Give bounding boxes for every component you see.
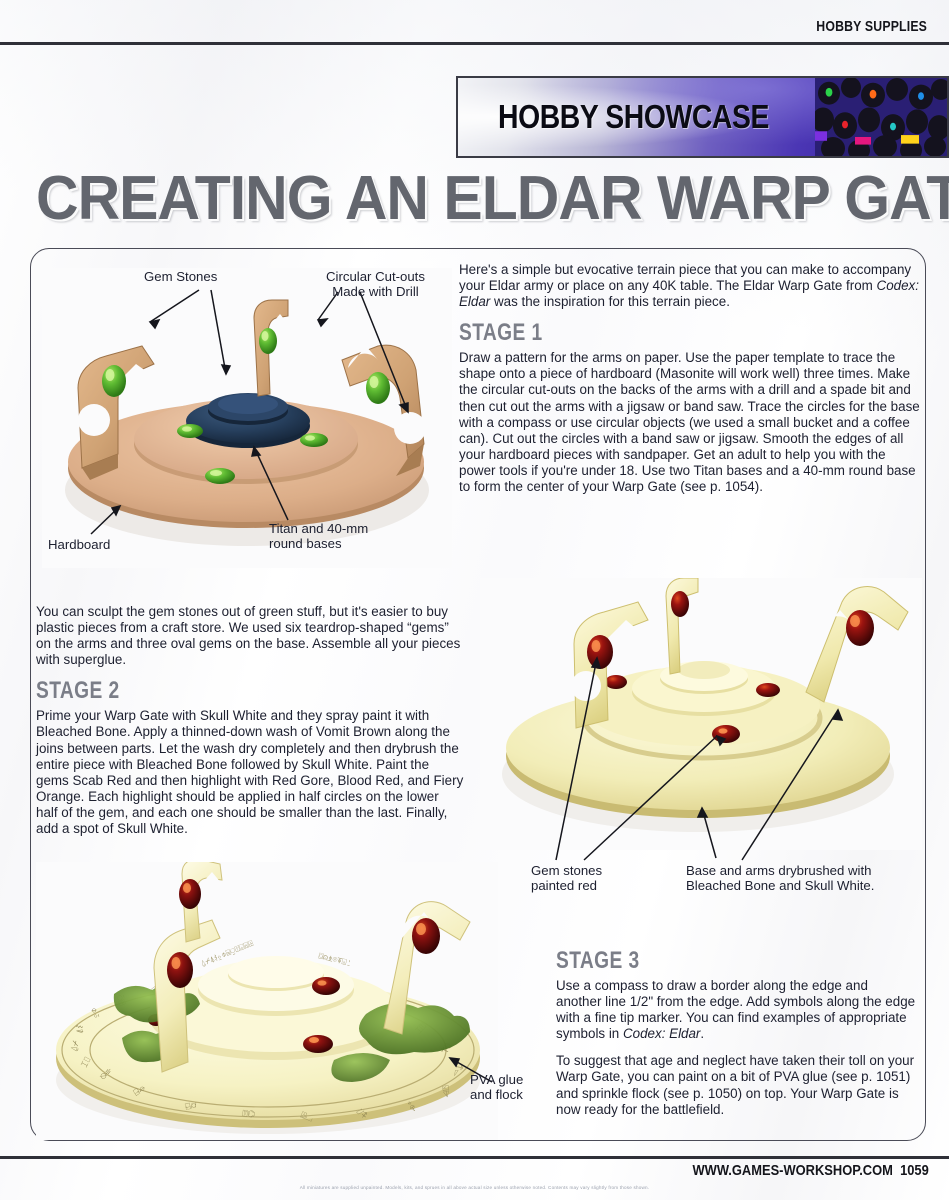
intro-text-lead: Here's a simple but evocative terrain pi… (459, 262, 911, 293)
stage3-text-tail: . (700, 1026, 704, 1041)
section-kicker: HOBBY SUPPLIES (816, 18, 927, 35)
photo-stage1-hardboard-gate (42, 268, 452, 568)
callout-titan-bases: Titan and 40-mm round bases (269, 521, 368, 552)
stage3-heading: STAGE 3 (556, 949, 844, 973)
column-gems-stage2: You can sculpt the gem stones out of gre… (36, 604, 464, 837)
footer-url-and-page: WWW.GAMES-WORKSHOP.COM 1059 (693, 1162, 929, 1179)
column-stage3: STAGE 3 Use a compass to draw a border a… (556, 940, 916, 1118)
stage1-body: Draw a pattern for the arms on paper. Us… (459, 350, 925, 495)
svg-text:⍔⌬: ⍔⌬ (242, 1109, 256, 1120)
intro-text-tail: was the inspiration for this terrain pie… (490, 294, 730, 309)
callout-base-arms-drybrushed: Base and arms drybrushed with Bleached B… (686, 863, 874, 894)
intro-paragraph: Here's a simple but evocative terrain pi… (459, 262, 925, 310)
footer-website: WWW.GAMES-WORKSHOP.COM (693, 1162, 893, 1179)
photo-stage2-painted-gate (480, 578, 922, 850)
column-intro-stage1: Here's a simple but evocative terrain pi… (459, 262, 925, 495)
photo-stage3-finished-gate: ⌶⌷ ⍙⌿ ⍋⌇ ⍚⌽ ⌸⍜ ⍐⌺ ⍓⌹ ⌼⍝ ⍎⌾ ⍕⌻ ⍘⌵ ⍗⌶ ⌷⍊ ⍑… (36, 862, 498, 1140)
miniatures-photo-icon (815, 78, 947, 156)
stage2-heading: STAGE 2 (36, 679, 378, 703)
hobby-showcase-banner: HOBBY SHOWCASE (456, 76, 949, 158)
bottom-divider-rule (0, 1156, 949, 1159)
top-divider-rule (0, 42, 949, 45)
callout-hardboard: Hardboard (48, 537, 110, 552)
svg-text:⍚⌽: ⍚⌽ (89, 1007, 101, 1019)
callout-circular-cutouts: Circular Cut-outs Made with Drill (326, 269, 425, 300)
page-title: CREATING AN ELDAR WARP GATE (36, 168, 882, 230)
callout-pva-glue-flock: PVA glue and flock (470, 1072, 523, 1103)
footer-page-number: 1059 (900, 1162, 929, 1179)
callout-gem-stones-painted-red: Gem stones painted red (531, 863, 602, 894)
footer-fineprint: All miniatures are supplied unpainted. M… (0, 1185, 949, 1191)
stage3-text-lead: Use a compass to draw a border along the… (556, 978, 915, 1041)
stage3-body-2: To suggest that age and neglect have tak… (556, 1053, 916, 1117)
callout-gem-stones: Gem Stones (144, 269, 217, 284)
stage2-body: Prime your Warp Gate with Skull White an… (36, 708, 464, 837)
svg-text:⍑⌳: ⍑⌳ (451, 1064, 464, 1078)
stage3-codex-ref: Codex: Eldar (623, 1026, 700, 1041)
gems-note-body: You can sculpt the gem stones out of gre… (36, 604, 464, 668)
stage1-heading: STAGE 1 (459, 321, 832, 345)
banner-title: HOBBY SHOWCASE (498, 98, 769, 136)
svg-text:⍋⌇: ⍋⌇ (75, 1025, 86, 1034)
stage3-body-1: Use a compass to draw a border along the… (556, 978, 916, 1042)
